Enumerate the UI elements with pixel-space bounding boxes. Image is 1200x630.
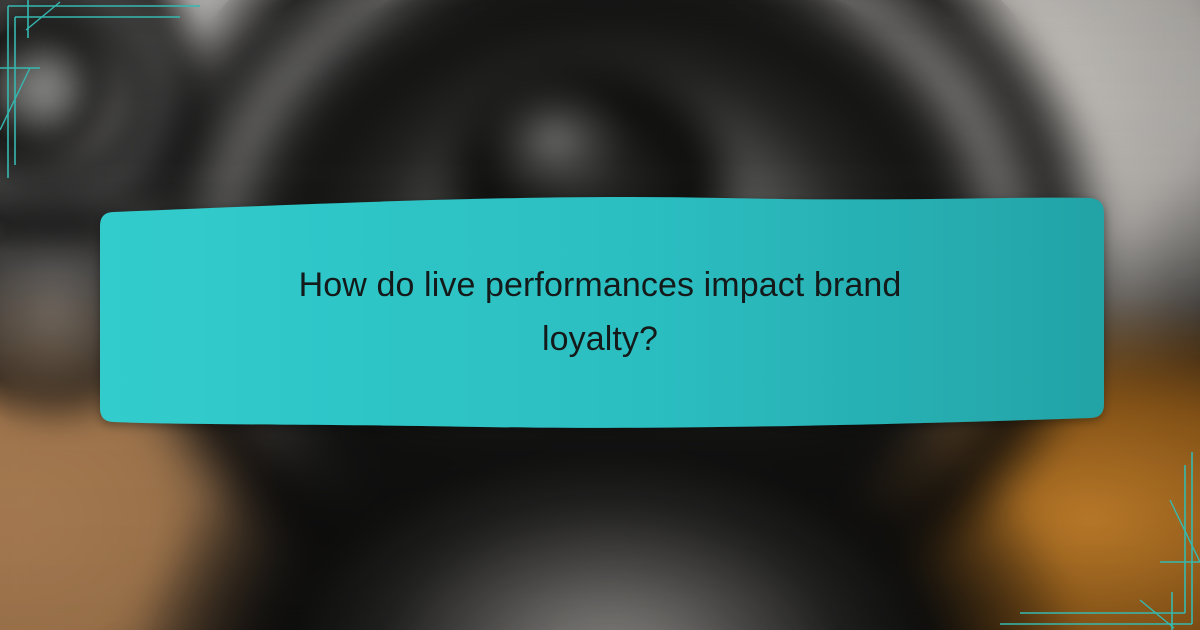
question-card-canvas: How do live performances impact brand lo… [0,0,1200,630]
banner-wrapper: How do live performances impact brand lo… [0,0,1200,630]
question-line-1: How do live performances impact brand [150,258,1050,312]
question-text-block: How do live performances impact brand lo… [150,258,1050,366]
question-line-2: loyalty? [150,312,1050,366]
